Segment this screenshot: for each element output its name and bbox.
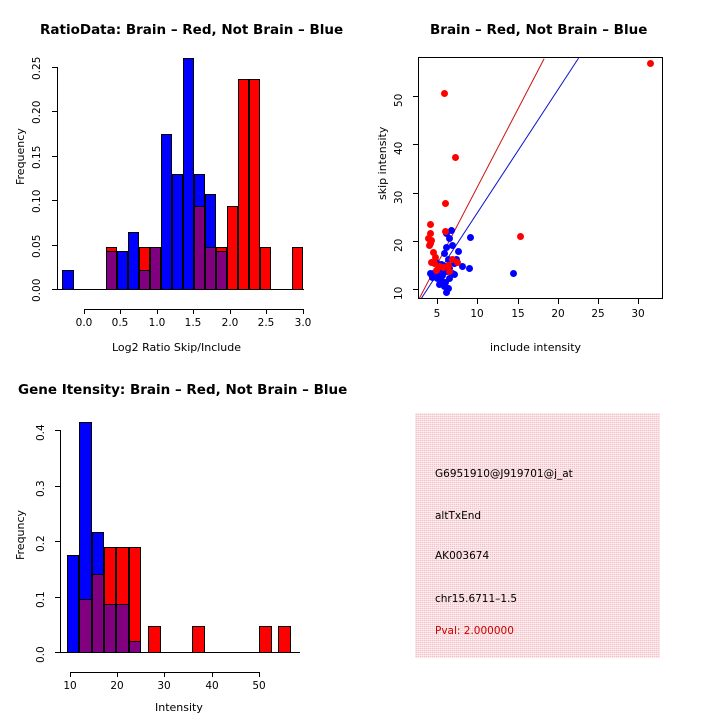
data-point-not-brain: [455, 248, 462, 255]
data-point-not-brain: [467, 234, 474, 241]
plot-page: RatioData: Brain – Red, Not Brain – Blue…: [0, 0, 720, 720]
gene-x-ticklabel: 10: [58, 680, 82, 692]
scatter-x-tick: [638, 299, 639, 304]
gene-x-ticklabel: 50: [247, 680, 271, 692]
data-point-brain: [441, 90, 448, 97]
bar-overlap: [104, 604, 116, 653]
event-type-text: altTxEnd: [435, 510, 481, 522]
ratio-histogram-ylabel: Frequency: [14, 128, 27, 185]
ratio-y-ticklabel: 0.10: [31, 187, 43, 213]
data-point-brain: [427, 221, 434, 228]
scatter-y-tick: [413, 144, 418, 145]
scatter-x-tick: [598, 299, 599, 304]
ratio-y-ticklabel: 0.05: [31, 232, 43, 258]
gene-x-ticklabel: 30: [152, 680, 176, 692]
bar-overlap: [116, 604, 129, 653]
bar-overlap: [194, 206, 205, 290]
gene-histogram-panel: Gene Itensity: Brain – Red, Not Brain – …: [0, 360, 360, 720]
ratio-x-ticklabel: 0.0: [69, 317, 99, 329]
scatter-y-ticklabel: 10: [393, 278, 405, 300]
ratio-x-tick: [157, 309, 158, 314]
gene-x-ticklabel: 40: [200, 680, 224, 692]
ratio-x-tick: [193, 309, 194, 314]
scatter-x-ticklabel: 5: [425, 308, 449, 320]
locus-text: chr15.6711–1.5: [435, 593, 517, 605]
scatter-x-ticklabel: 20: [546, 308, 570, 320]
ratio-histogram-title: RatioData: Brain – Red, Not Brain – Blue: [40, 22, 343, 38]
gene-y-tick: [55, 486, 60, 487]
scatter-panel: Brain – Red, Not Brain – Blue skip inten…: [360, 0, 720, 360]
scatter-y-ticklabel: 50: [393, 85, 405, 107]
data-point-brain: [432, 254, 439, 261]
gene-baseline: [60, 652, 300, 653]
scatter-y-ticklabel: 20: [393, 230, 405, 252]
data-point-brain: [433, 267, 440, 274]
ratio-y-tick: [52, 245, 57, 246]
accession-text: AK003674: [435, 550, 489, 562]
data-point-not-brain: [439, 272, 446, 279]
scatter-y-ticklabel: 40: [393, 133, 405, 155]
scatter-x-ticklabel: 10: [465, 308, 489, 320]
gene-x-tick: [70, 672, 71, 677]
bar-brain: [260, 247, 271, 290]
bar-brain: [238, 79, 249, 290]
data-point-not-brain: [446, 275, 453, 282]
probe-id-text: G6951910@J919701@j_at: [435, 468, 573, 480]
data-point-brain: [442, 228, 449, 235]
data-point-not-brain: [510, 270, 517, 277]
ratio-y-tick: [52, 111, 57, 112]
gene-y-ticklabel: 0.3: [35, 475, 47, 497]
ratio-y-ticklabel: 0.15: [31, 143, 43, 169]
data-point-not-brain: [449, 242, 456, 249]
scatter-y-tick: [413, 241, 418, 242]
bar-not-brain: [128, 232, 139, 290]
ratio-x-tick: [84, 309, 85, 314]
bar-overlap: [205, 247, 216, 290]
bar-brain: [249, 79, 260, 290]
scatter-x-ticklabel: 15: [506, 308, 530, 320]
bar-brain: [278, 626, 291, 653]
ratio-x-tick: [120, 309, 121, 314]
bar-overlap: [79, 599, 92, 653]
bar-overlap: [106, 251, 117, 290]
gene-x-tick: [259, 672, 260, 677]
data-point-brain: [442, 200, 449, 207]
ratio-x-axis-line: [84, 309, 304, 310]
gene-x-tick: [117, 672, 118, 677]
gene-x-tick: [212, 672, 213, 677]
bar-not-brain: [62, 270, 74, 290]
pval-text: Pval: 2.000000: [435, 625, 514, 637]
gene-y-tick: [55, 597, 60, 598]
ratio-histogram-xlabel: Log2 Ratio Skip/Include: [112, 341, 241, 354]
scatter-x-tick: [518, 299, 519, 304]
gene-y-ticklabel: 0.4: [35, 419, 47, 441]
ratio-x-tick: [230, 309, 231, 314]
ratio-y-tick: [52, 67, 57, 68]
bar-brain: [129, 547, 141, 653]
ratio-x-ticklabel: 2.5: [251, 317, 281, 329]
gene-y-ticklabel: 0.2: [35, 530, 47, 552]
scatter-xlabel: include intensity: [490, 341, 581, 354]
data-point-brain: [426, 242, 433, 249]
bar-brain: [192, 626, 205, 653]
bar-brain: [148, 626, 161, 653]
scatter-y-tick: [413, 289, 418, 290]
scatter-ylabel: skip intensity: [376, 127, 389, 200]
scatter-x-tick: [437, 299, 438, 304]
ratio-baseline: [57, 289, 304, 290]
data-point-brain: [452, 154, 459, 161]
scatter-y-tick: [413, 193, 418, 194]
bar-overlap: [150, 247, 161, 290]
scatter-title: Brain – Red, Not Brain – Blue: [430, 22, 647, 38]
bar-overlap: [139, 270, 150, 290]
ratio-y-tick: [52, 156, 57, 157]
gene-x-tick: [164, 672, 165, 677]
ratio-histogram-panel: RatioData: Brain – Red, Not Brain – Blue…: [0, 0, 360, 360]
ratio-x-tick: [303, 309, 304, 314]
ratio-x-ticklabel: 1.5: [178, 317, 208, 329]
gene-histogram-title: Gene Itensity: Brain – Red, Not Brain – …: [18, 382, 347, 398]
gene-y-ticklabel: 0.1: [35, 586, 47, 608]
data-point-brain: [647, 60, 654, 67]
scatter-x-tick: [558, 299, 559, 304]
gene-info-panel: G6951910@J919701@j_at altTxEnd AK003674 …: [415, 413, 660, 658]
ratio-x-ticklabel: 0.5: [105, 317, 135, 329]
ratio-x-ticklabel: 3.0: [288, 317, 318, 329]
bar-brain: [227, 206, 238, 290]
gene-histogram-xlabel: Intensity: [155, 701, 203, 714]
data-point-brain: [517, 233, 524, 240]
gene-x-ticklabel: 20: [105, 680, 129, 692]
bar-overlap: [92, 574, 104, 653]
ratio-x-ticklabel: 1.0: [142, 317, 172, 329]
bar-not-brain: [161, 134, 172, 290]
gene-y-axis-line: [60, 430, 61, 653]
scatter-x-tick: [477, 299, 478, 304]
scatter-x-ticklabel: 30: [626, 308, 650, 320]
bar-brain: [259, 626, 272, 653]
ratio-y-ticklabel: 0.00: [31, 276, 43, 302]
scatter-y-ticklabel: 30: [393, 182, 405, 204]
bar-not-brain: [67, 555, 79, 653]
data-point-brain: [446, 268, 453, 275]
ratio-y-ticklabel: 0.25: [31, 54, 43, 80]
ratio-y-ticklabel: 0.20: [31, 98, 43, 124]
data-point-not-brain: [446, 235, 453, 242]
bar-not-brain: [117, 251, 128, 290]
data-point-not-brain: [443, 289, 450, 296]
data-point-brain: [449, 256, 456, 263]
gene-histogram-ylabel: Frequncy: [14, 510, 27, 560]
ratio-y-axis-line: [57, 67, 58, 290]
data-point-not-brain: [466, 265, 473, 272]
data-point-not-brain: [448, 227, 455, 234]
gene-y-tick: [55, 541, 60, 542]
scatter-x-ticklabel: 25: [586, 308, 610, 320]
ratio-x-ticklabel: 2.0: [215, 317, 245, 329]
bar-overlap: [216, 251, 227, 290]
scatter-y-tick: [413, 96, 418, 97]
ratio-x-tick: [266, 309, 267, 314]
gene-y-ticklabel: 0.0: [35, 641, 47, 663]
ratio-y-tick: [52, 200, 57, 201]
bar-brain: [292, 247, 303, 290]
bar-not-brain: [172, 174, 183, 290]
bar-not-brain: [183, 58, 194, 290]
gene-y-tick: [55, 430, 60, 431]
